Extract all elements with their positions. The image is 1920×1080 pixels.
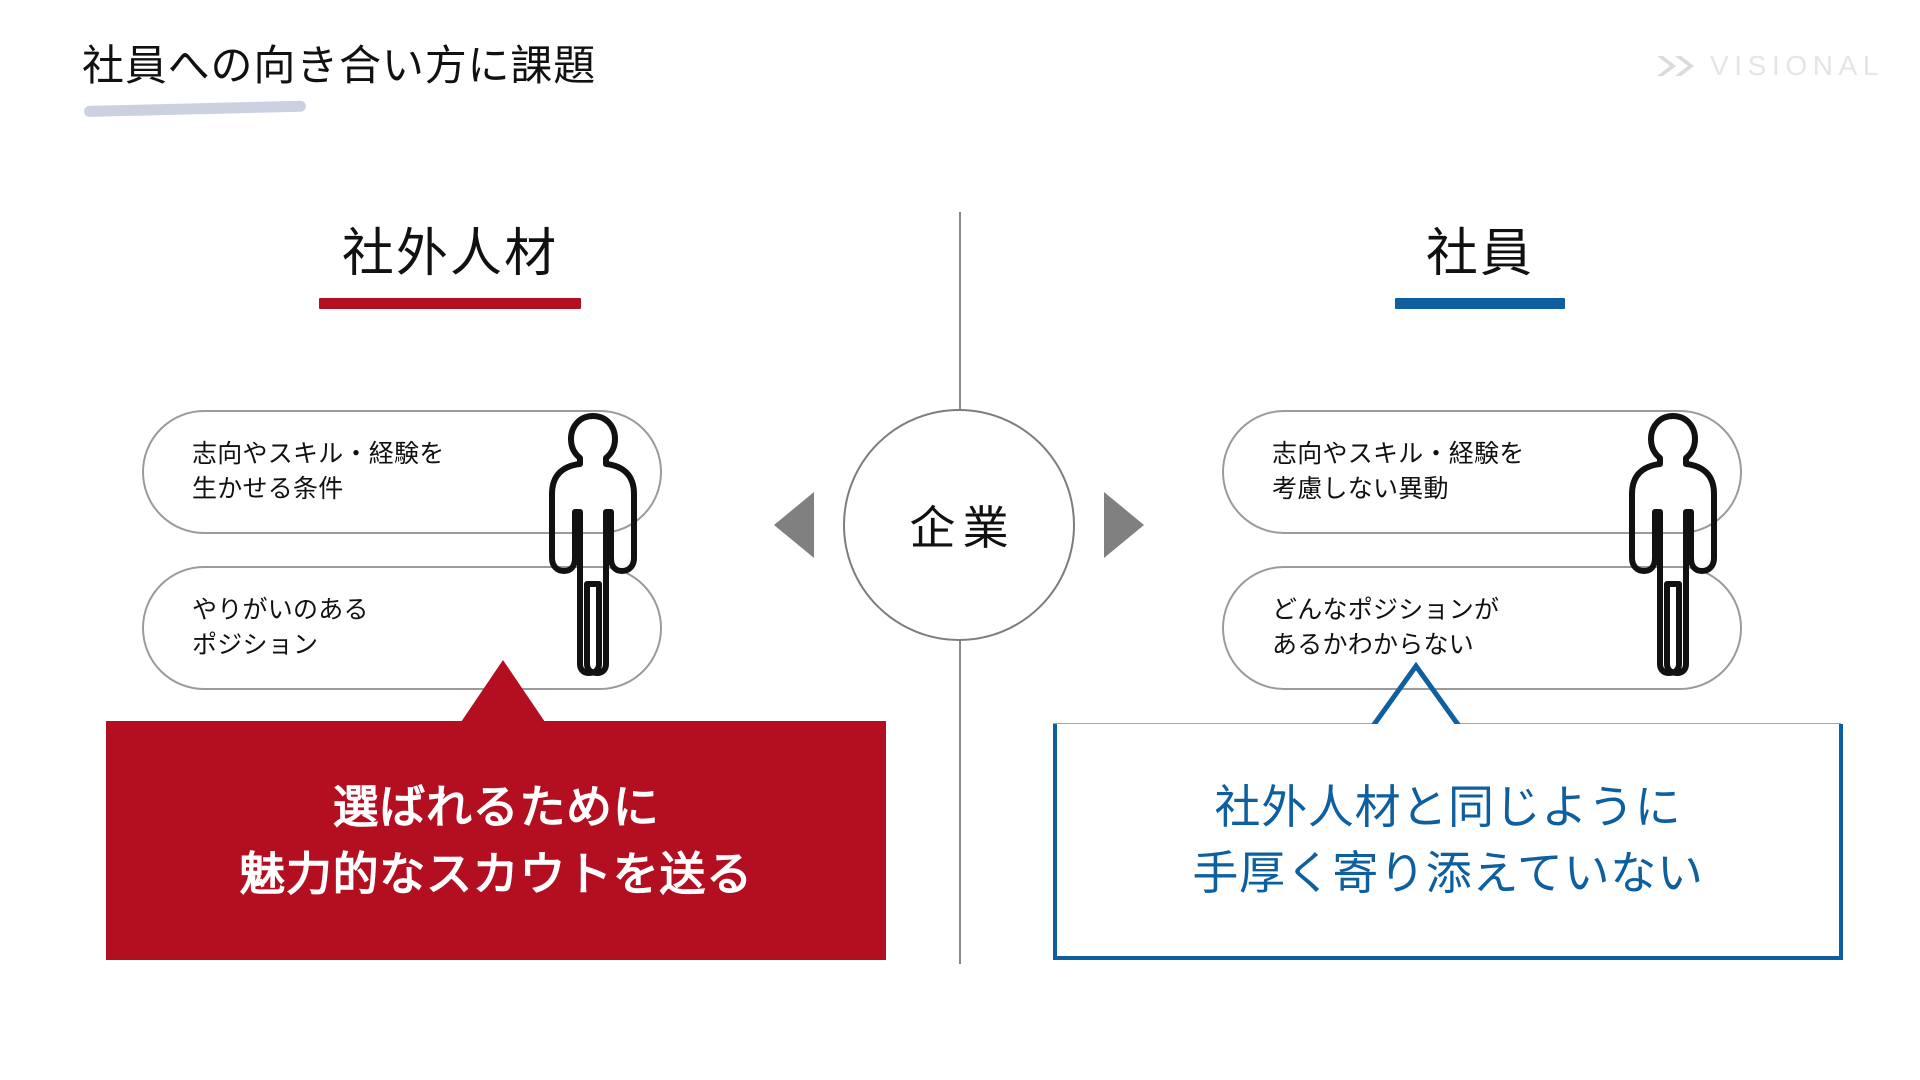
column-header-label: 社外人材 — [230, 228, 670, 280]
banner-text: 選ばれるために 魅力的なスカウトを送る — [239, 774, 753, 906]
triangle-left-icon — [774, 492, 814, 558]
banner-pointer-up-icon — [1053, 660, 1843, 728]
banner-box: 選ばれるために 魅力的なスカウトを送る — [106, 721, 886, 960]
triangle-right-icon — [1104, 492, 1144, 558]
title-block: 社員への向き合い方に課題 — [82, 32, 982, 122]
column-header-external-talent: 社外人材 — [230, 228, 670, 309]
column-header-employees: 社員 — [1260, 228, 1700, 309]
banner-box: 社外人材と同じように 手厚く寄り添えていない — [1053, 724, 1843, 960]
conclusion-banner-employees: 社外人材と同じように 手厚く寄り添えていない — [1053, 660, 1843, 960]
title-underline-brush — [84, 101, 306, 117]
brand-wordmark: VISIONAL — [1710, 52, 1884, 80]
double-chevron-right-icon — [1655, 53, 1701, 79]
company-circle: 企業 — [843, 409, 1075, 641]
conclusion-banner-external-talent: 選ばれるために 魅力的なスカウトを送る — [106, 660, 886, 960]
person-standing-icon — [528, 408, 658, 680]
slide-canvas: 社員への向き合い方に課題 VISIONAL 社外人材 社員 志向やスキル・経験を… — [0, 0, 1920, 1080]
column-header-label: 社員 — [1260, 228, 1700, 280]
pill-text: どんなポジションが あるかわからない — [1224, 593, 1499, 664]
person-standing-icon — [1608, 408, 1738, 680]
banner-pointer-up-icon — [461, 660, 545, 722]
pill-text: 志向やスキル・経験を 考慮しない異動 — [1224, 437, 1525, 508]
pill-text: やりがいのある ポジション — [144, 593, 369, 664]
pill-text: 志向やスキル・経験を 生かせる条件 — [144, 437, 445, 508]
banner-text: 社外人材と同じように 手厚く寄り添えていない — [1192, 774, 1703, 906]
brand-logo: VISIONAL — [1655, 52, 1884, 80]
column-header-underline — [1395, 298, 1565, 309]
page-title: 社員への向き合い方に課題 — [82, 32, 596, 93]
column-header-underline — [319, 298, 581, 309]
company-label: 企業 — [902, 492, 1016, 558]
